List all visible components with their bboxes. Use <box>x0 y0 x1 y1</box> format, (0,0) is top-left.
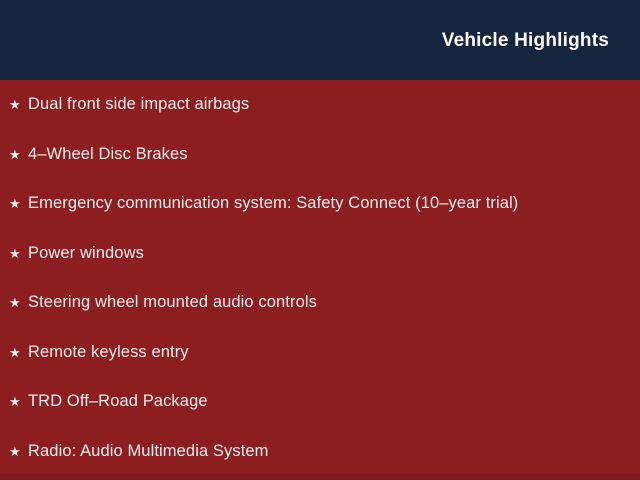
star-bullet-icon: ★ <box>9 148 28 161</box>
star-bullet-icon: ★ <box>9 98 28 111</box>
list-item: ★ TRD Off–Road Package <box>0 393 640 443</box>
list-item-label: Radio: Audio Multimedia System <box>28 443 269 460</box>
list-item-label: Steering wheel mounted audio controls <box>28 294 317 311</box>
slide-header: Vehicle Highlights <box>0 0 640 80</box>
star-bullet-icon: ★ <box>9 445 28 458</box>
list-item: ★ Steering wheel mounted audio controls <box>0 294 640 344</box>
star-bullet-icon: ★ <box>9 296 28 309</box>
list-item-label: Power windows <box>28 245 144 262</box>
star-bullet-icon: ★ <box>9 197 28 210</box>
list-item: ★ Dual front side impact airbags <box>0 96 640 146</box>
star-bullet-icon: ★ <box>9 247 28 260</box>
list-item-label: Dual front side impact airbags <box>28 96 249 113</box>
list-item-label: TRD Off–Road Package <box>28 393 208 410</box>
list-item: ★ Remote keyless entry <box>0 344 640 394</box>
list-item: ★ Power windows <box>0 245 640 295</box>
page-title: Vehicle Highlights <box>442 31 609 50</box>
highlights-list: ★ Dual front side impact airbags ★ 4–Whe… <box>0 80 640 480</box>
list-item-label: Emergency communication system: Safety C… <box>28 195 518 212</box>
vehicle-highlights-slide: Vehicle Highlights ★ Dual front side imp… <box>0 0 640 480</box>
star-bullet-icon: ★ <box>9 395 28 408</box>
list-item: ★ 4–Wheel Disc Brakes <box>0 146 640 196</box>
list-item-label: Remote keyless entry <box>28 344 189 361</box>
footer-band <box>0 474 640 480</box>
list-item: ★ Emergency communication system: Safety… <box>0 195 640 245</box>
list-item-label: 4–Wheel Disc Brakes <box>28 146 188 163</box>
star-bullet-icon: ★ <box>9 346 28 359</box>
